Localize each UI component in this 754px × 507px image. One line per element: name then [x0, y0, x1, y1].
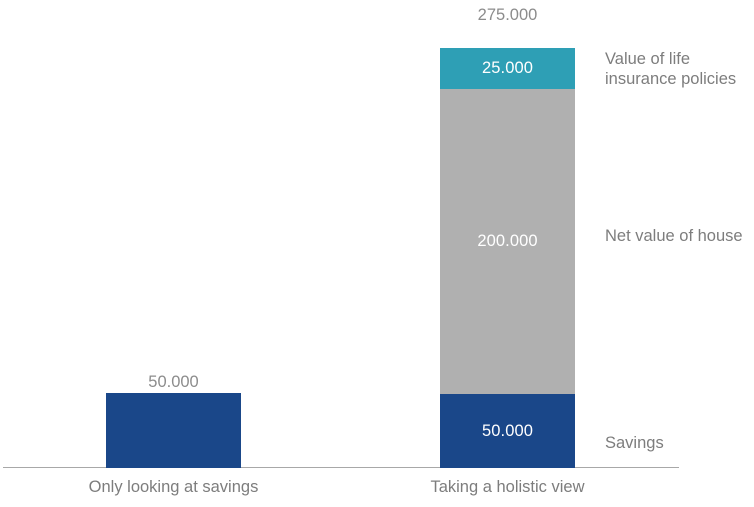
bar-segment-value-of-life-insurance-policies[interactable]: 25.000	[440, 48, 575, 89]
bar-segment-savings-1[interactable]: 50.000	[106, 393, 241, 468]
plot-area: 50.000 50.000 50.000 200.000 25.000 275.…	[0, 0, 754, 507]
legend-label-value-of-life-insurance-policies[interactable]: Value of life insurance policies	[605, 49, 736, 89]
bar-group-taking-a-holistic-view: 50.000 200.000 25.000	[440, 48, 575, 468]
bar-total-label-1: 50.000	[106, 373, 241, 392]
bar-segment-value-savings-2: 50.000	[482, 422, 533, 441]
bar-total-label-2: 275.000	[440, 6, 575, 25]
bar-segment-value-life-insurance: 25.000	[482, 59, 533, 78]
bar-segment-net-value-of-house[interactable]: 200.000	[440, 89, 575, 394]
bar-segment-savings-2[interactable]: 50.000	[440, 394, 575, 468]
stacked-bar-chart: 50.000 50.000 50.000 200.000 25.000 275.…	[0, 0, 754, 507]
bar-group-only-looking-at-savings: 50.000	[106, 393, 241, 468]
x-axis-label-only-looking-at-savings: Only looking at savings	[33, 478, 314, 497]
bar-segment-value-net-value-of-house: 200.000	[477, 232, 537, 251]
x-axis-label-taking-a-holistic-view: Taking a holistic view	[367, 478, 648, 497]
legend-label-savings[interactable]: Savings	[605, 433, 664, 453]
x-axis-line	[3, 467, 679, 468]
legend-label-net-value-of-house[interactable]: Net value of house	[605, 226, 743, 246]
